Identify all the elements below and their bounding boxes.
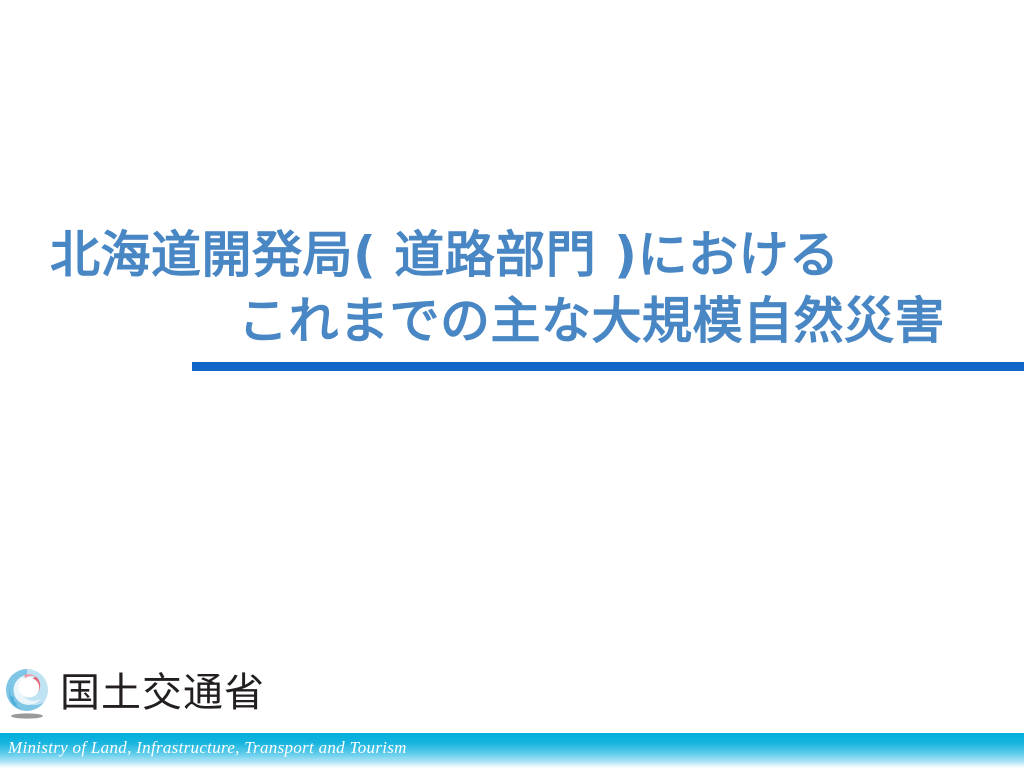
title-line-1: 北海道開発局( 道路部門 )における <box>0 222 1024 288</box>
title-line-2: これまでの主な大規模自然災害 <box>0 288 1024 354</box>
slide-footer: 国土交通省 Ministry of Land, Infrastructure, … <box>0 668 1024 768</box>
ministry-name-ja: 国土交通省 <box>60 672 265 714</box>
mlit-emblem-icon <box>4 668 50 722</box>
title-underline-rule <box>192 362 1024 371</box>
ministry-name-en: Ministry of Land, Infrastructure, Transp… <box>8 737 407 759</box>
slide-title: 北海道開発局( 道路部門 )における これまでの主な大規模自然災害 <box>0 222 1024 354</box>
ministry-logo: 国土交通省 <box>4 668 265 722</box>
slide-canvas: 北海道開発局( 道路部門 )における これまでの主な大規模自然災害 <box>0 0 1024 768</box>
footer-gradient-band: Ministry of Land, Infrastructure, Transp… <box>0 733 1024 768</box>
